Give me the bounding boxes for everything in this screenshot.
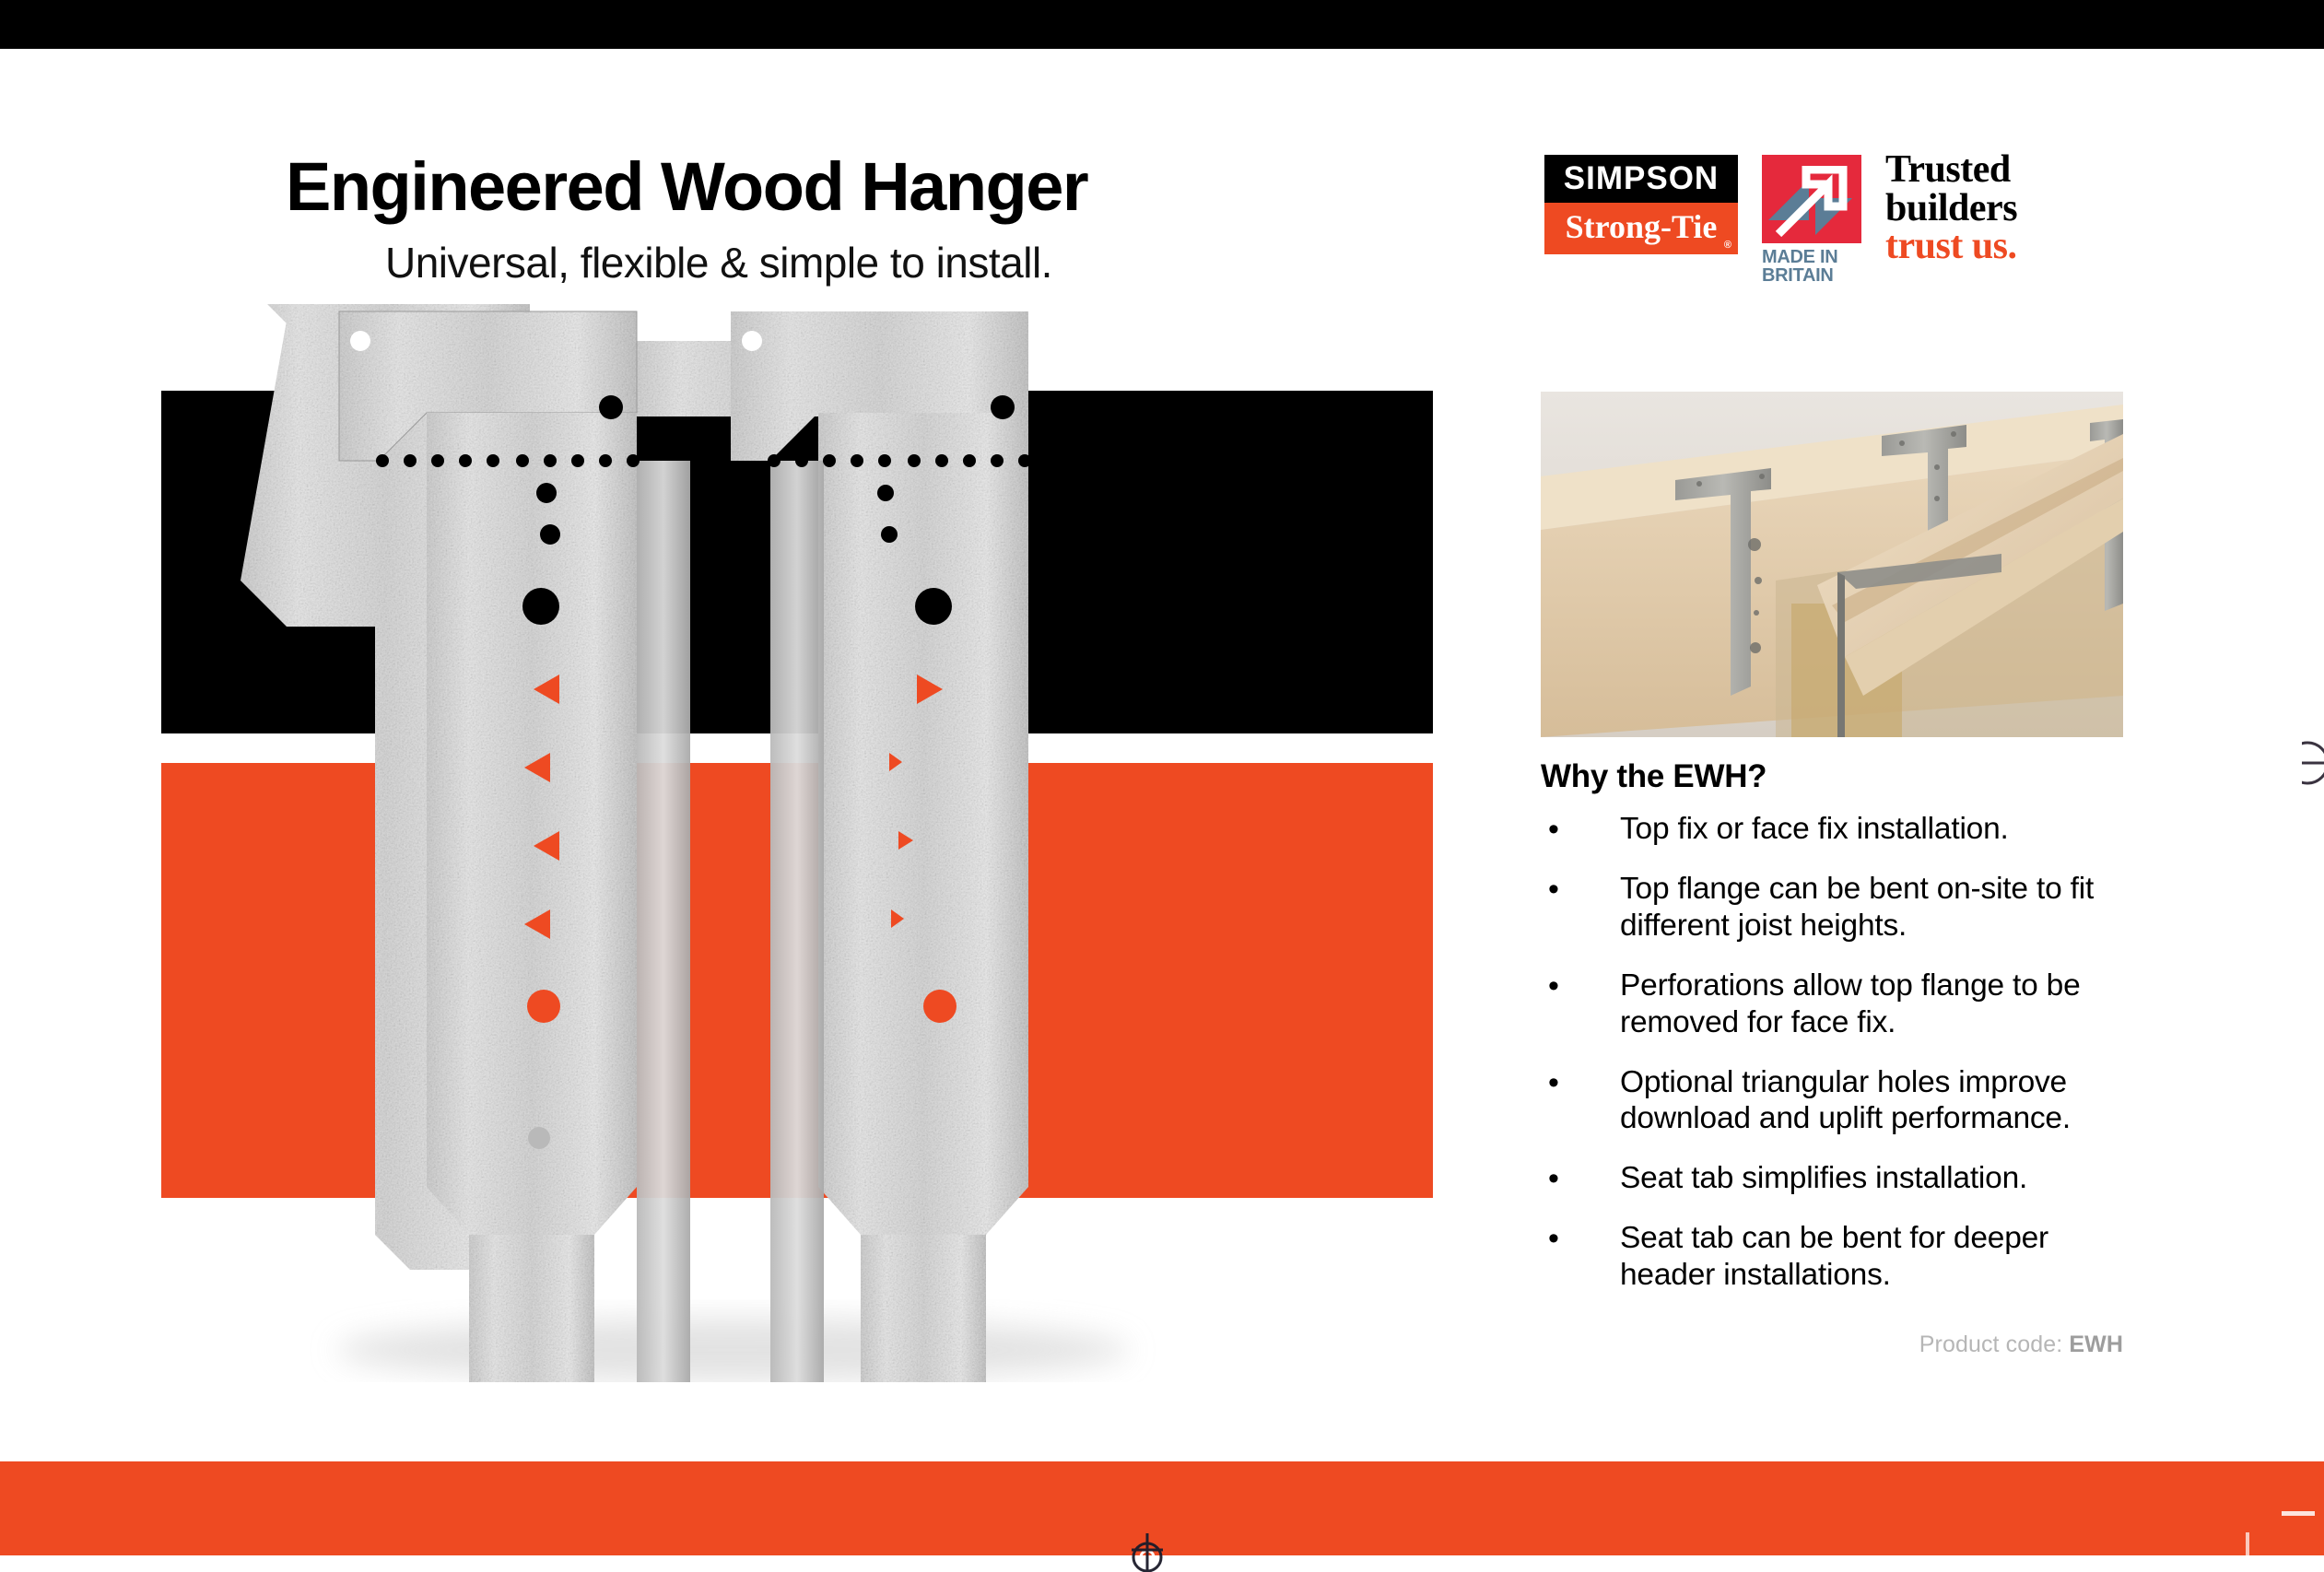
strong-tie-wordmark: Strong-Tie ® — [1544, 203, 1738, 254]
cropped-circle-icon — [2302, 735, 2324, 791]
top-chrome-bar — [0, 0, 2324, 49]
logo-cluster: SIMPSON Strong-Tie ® MADE IN BRITAIN Tru… — [1544, 155, 2017, 280]
mib-line-1: MADE IN — [1762, 248, 1861, 266]
registered-mark: ® — [1724, 240, 1731, 251]
slogan-line-3: trust us. — [1885, 228, 2017, 266]
product-code-value: EWH — [2069, 1332, 2123, 1357]
slogan-line-2: builders — [1885, 190, 2017, 229]
bullet-icon: • — [1541, 811, 1620, 848]
benefits-list: • Top fix or face fix installation. • To… — [1541, 811, 2130, 1317]
list-item-label: Top flange can be bent on-site to fit di… — [1620, 871, 2130, 944]
list-item-label: Seat tab can be bent for deeper header i… — [1620, 1220, 2130, 1294]
list-item-label: Optional triangular holes improve downlo… — [1620, 1064, 2130, 1138]
page-subtitle: Universal, flexible & simple to install. — [385, 238, 1052, 287]
made-in-britain-text: MADE IN BRITAIN — [1762, 248, 1861, 286]
made-in-britain-flag-icon — [1762, 155, 1861, 243]
why-heading: Why the EWH? — [1541, 758, 1766, 795]
installation-photo — [1541, 392, 2123, 737]
hanger-illustration — [161, 304, 1442, 1382]
arrow-icon — [1773, 166, 1850, 238]
product-code: Product code: EWH — [1541, 1332, 2123, 1358]
simpson-strong-tie-logo: SIMPSON Strong-Tie ® — [1544, 155, 1738, 254]
footer-target-icon — [1126, 1530, 1168, 1572]
list-item: • Top flange can be bent on-site to fit … — [1541, 871, 2130, 944]
footer-tick-horizontal — [2282, 1511, 2315, 1516]
product-code-label: Product code: — [1919, 1332, 2063, 1357]
bullet-icon: • — [1541, 968, 1620, 1041]
bullet-icon: • — [1541, 871, 1620, 944]
hanger-right — [731, 311, 1031, 1382]
hero-product-image — [161, 304, 1442, 1382]
list-item-label: Top fix or face fix installation. — [1620, 811, 2009, 848]
list-item: • Seat tab can be bent for deeper header… — [1541, 1220, 2130, 1294]
list-item-label: Perforations allow top flange to be remo… — [1620, 968, 2130, 1041]
list-item-label: Seat tab simplifies installation. — [1620, 1160, 2027, 1197]
trusted-builders-slogan: Trusted builders trust us. — [1885, 151, 2017, 266]
made-in-britain-logo: MADE IN BRITAIN — [1762, 155, 1861, 286]
joist-hanger-photo — [1541, 392, 2123, 737]
bullet-icon: • — [1541, 1064, 1620, 1138]
bullet-icon: • — [1541, 1220, 1620, 1294]
page-title: Engineered Wood Hanger — [286, 147, 1087, 226]
slogan-line-1: Trusted — [1885, 151, 2017, 190]
list-item: • Top fix or face fix installation. — [1541, 811, 2130, 848]
list-item: • Optional triangular holes improve down… — [1541, 1064, 2130, 1138]
list-item: • Seat tab simplifies installation. — [1541, 1160, 2130, 1197]
footer-tick-vertical — [2246, 1532, 2249, 1558]
list-item: • Perforations allow top flange to be re… — [1541, 968, 2130, 1041]
bullet-icon: • — [1541, 1160, 1620, 1197]
simpson-wordmark: SIMPSON — [1544, 155, 1738, 203]
mib-line-2: BRITAIN — [1762, 266, 1861, 285]
strong-tie-text: Strong-Tie — [1566, 208, 1718, 245]
